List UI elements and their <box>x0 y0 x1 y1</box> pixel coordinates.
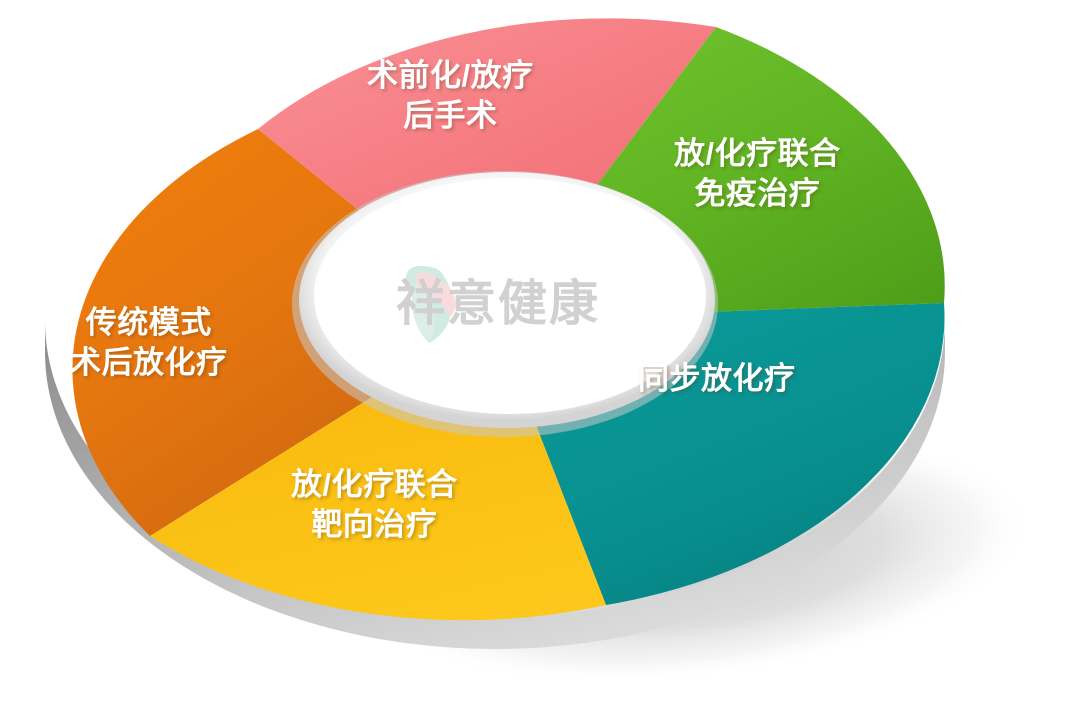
donut-chart-graphic <box>0 0 1080 708</box>
donut-hole <box>292 171 718 437</box>
chart-canvas: 术前化/放疗 后手术 放/化疗联合 免疫治疗 同步放化疗 放/化疗联合 靶向治疗… <box>0 0 1080 708</box>
